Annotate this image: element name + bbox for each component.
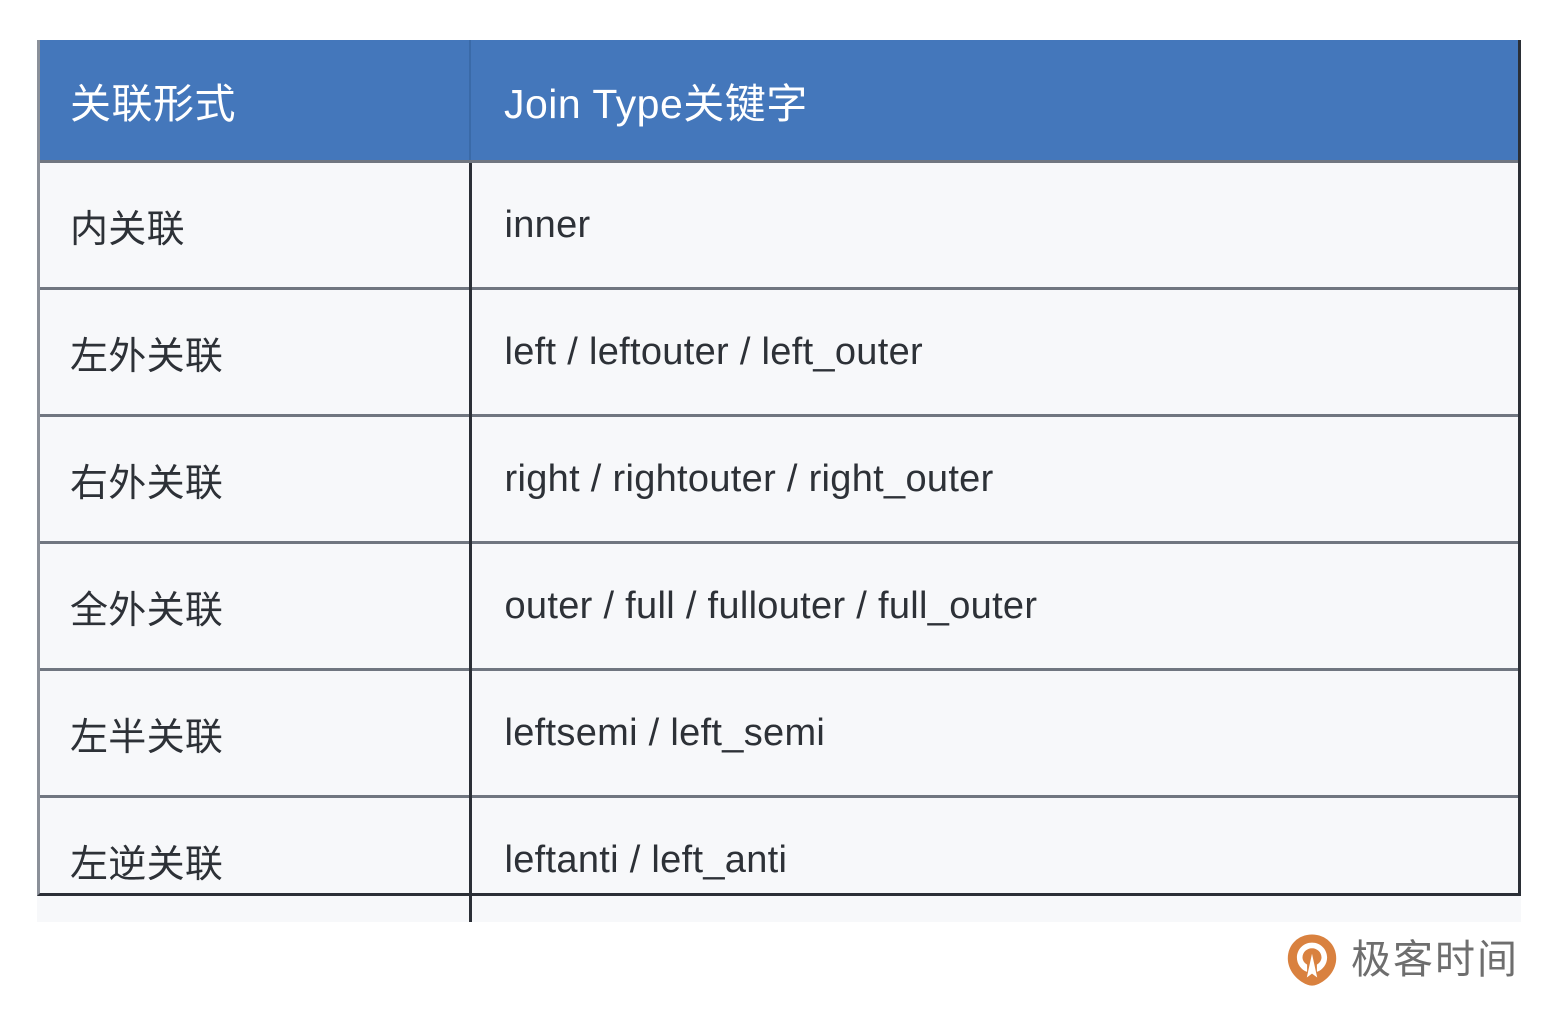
table-row: 左半关联 leftsemi / left_semi <box>37 670 1521 797</box>
table-row: 左外关联 left / leftouter / left_outer <box>37 289 1521 416</box>
cell-join-keyword: leftanti / left_anti <box>470 797 1521 923</box>
cell-join-form: 右外关联 <box>37 416 470 543</box>
geektime-logo-text: 极客时间 <box>1351 940 1519 980</box>
column-header-join-form: 关联形式 <box>37 40 470 162</box>
cell-join-keyword: inner <box>470 162 1521 289</box>
table-header-row: 关联形式 Join Type关键字 <box>37 40 1521 162</box>
cell-join-keyword: leftsemi / left_semi <box>470 670 1521 797</box>
slide-canvas: 关联形式 Join Type关键字 内关联 inner 左外关联 left / … <box>0 0 1555 1009</box>
geektime-logo: 极客时间 <box>1286 933 1519 987</box>
cell-join-form: 左逆关联 <box>37 797 470 923</box>
table-body: 内关联 inner 左外关联 left / leftouter / left_o… <box>37 162 1521 923</box>
geektime-pin-icon <box>1286 933 1338 987</box>
join-type-table: 关联形式 Join Type关键字 内关联 inner 左外关联 left / … <box>37 40 1521 922</box>
table-row: 右外关联 right / rightouter / right_outer <box>37 416 1521 543</box>
cell-join-keyword: right / rightouter / right_outer <box>470 416 1521 543</box>
cell-join-form: 内关联 <box>37 162 470 289</box>
cell-join-keyword: outer / full / fullouter / full_outer <box>470 543 1521 670</box>
cell-join-keyword: left / leftouter / left_outer <box>470 289 1521 416</box>
cell-join-form: 左外关联 <box>37 289 470 416</box>
table-row: 左逆关联 leftanti / left_anti <box>37 797 1521 923</box>
cell-join-form: 左半关联 <box>37 670 470 797</box>
table-header: 关联形式 Join Type关键字 <box>37 40 1521 162</box>
table-row: 全外关联 outer / full / fullouter / full_out… <box>37 543 1521 670</box>
column-header-join-keyword: Join Type关键字 <box>470 40 1521 162</box>
table-row: 内关联 inner <box>37 162 1521 289</box>
join-type-table-wrapper: 关联形式 Join Type关键字 内关联 inner 左外关联 left / … <box>37 40 1521 922</box>
cell-join-form: 全外关联 <box>37 543 470 670</box>
